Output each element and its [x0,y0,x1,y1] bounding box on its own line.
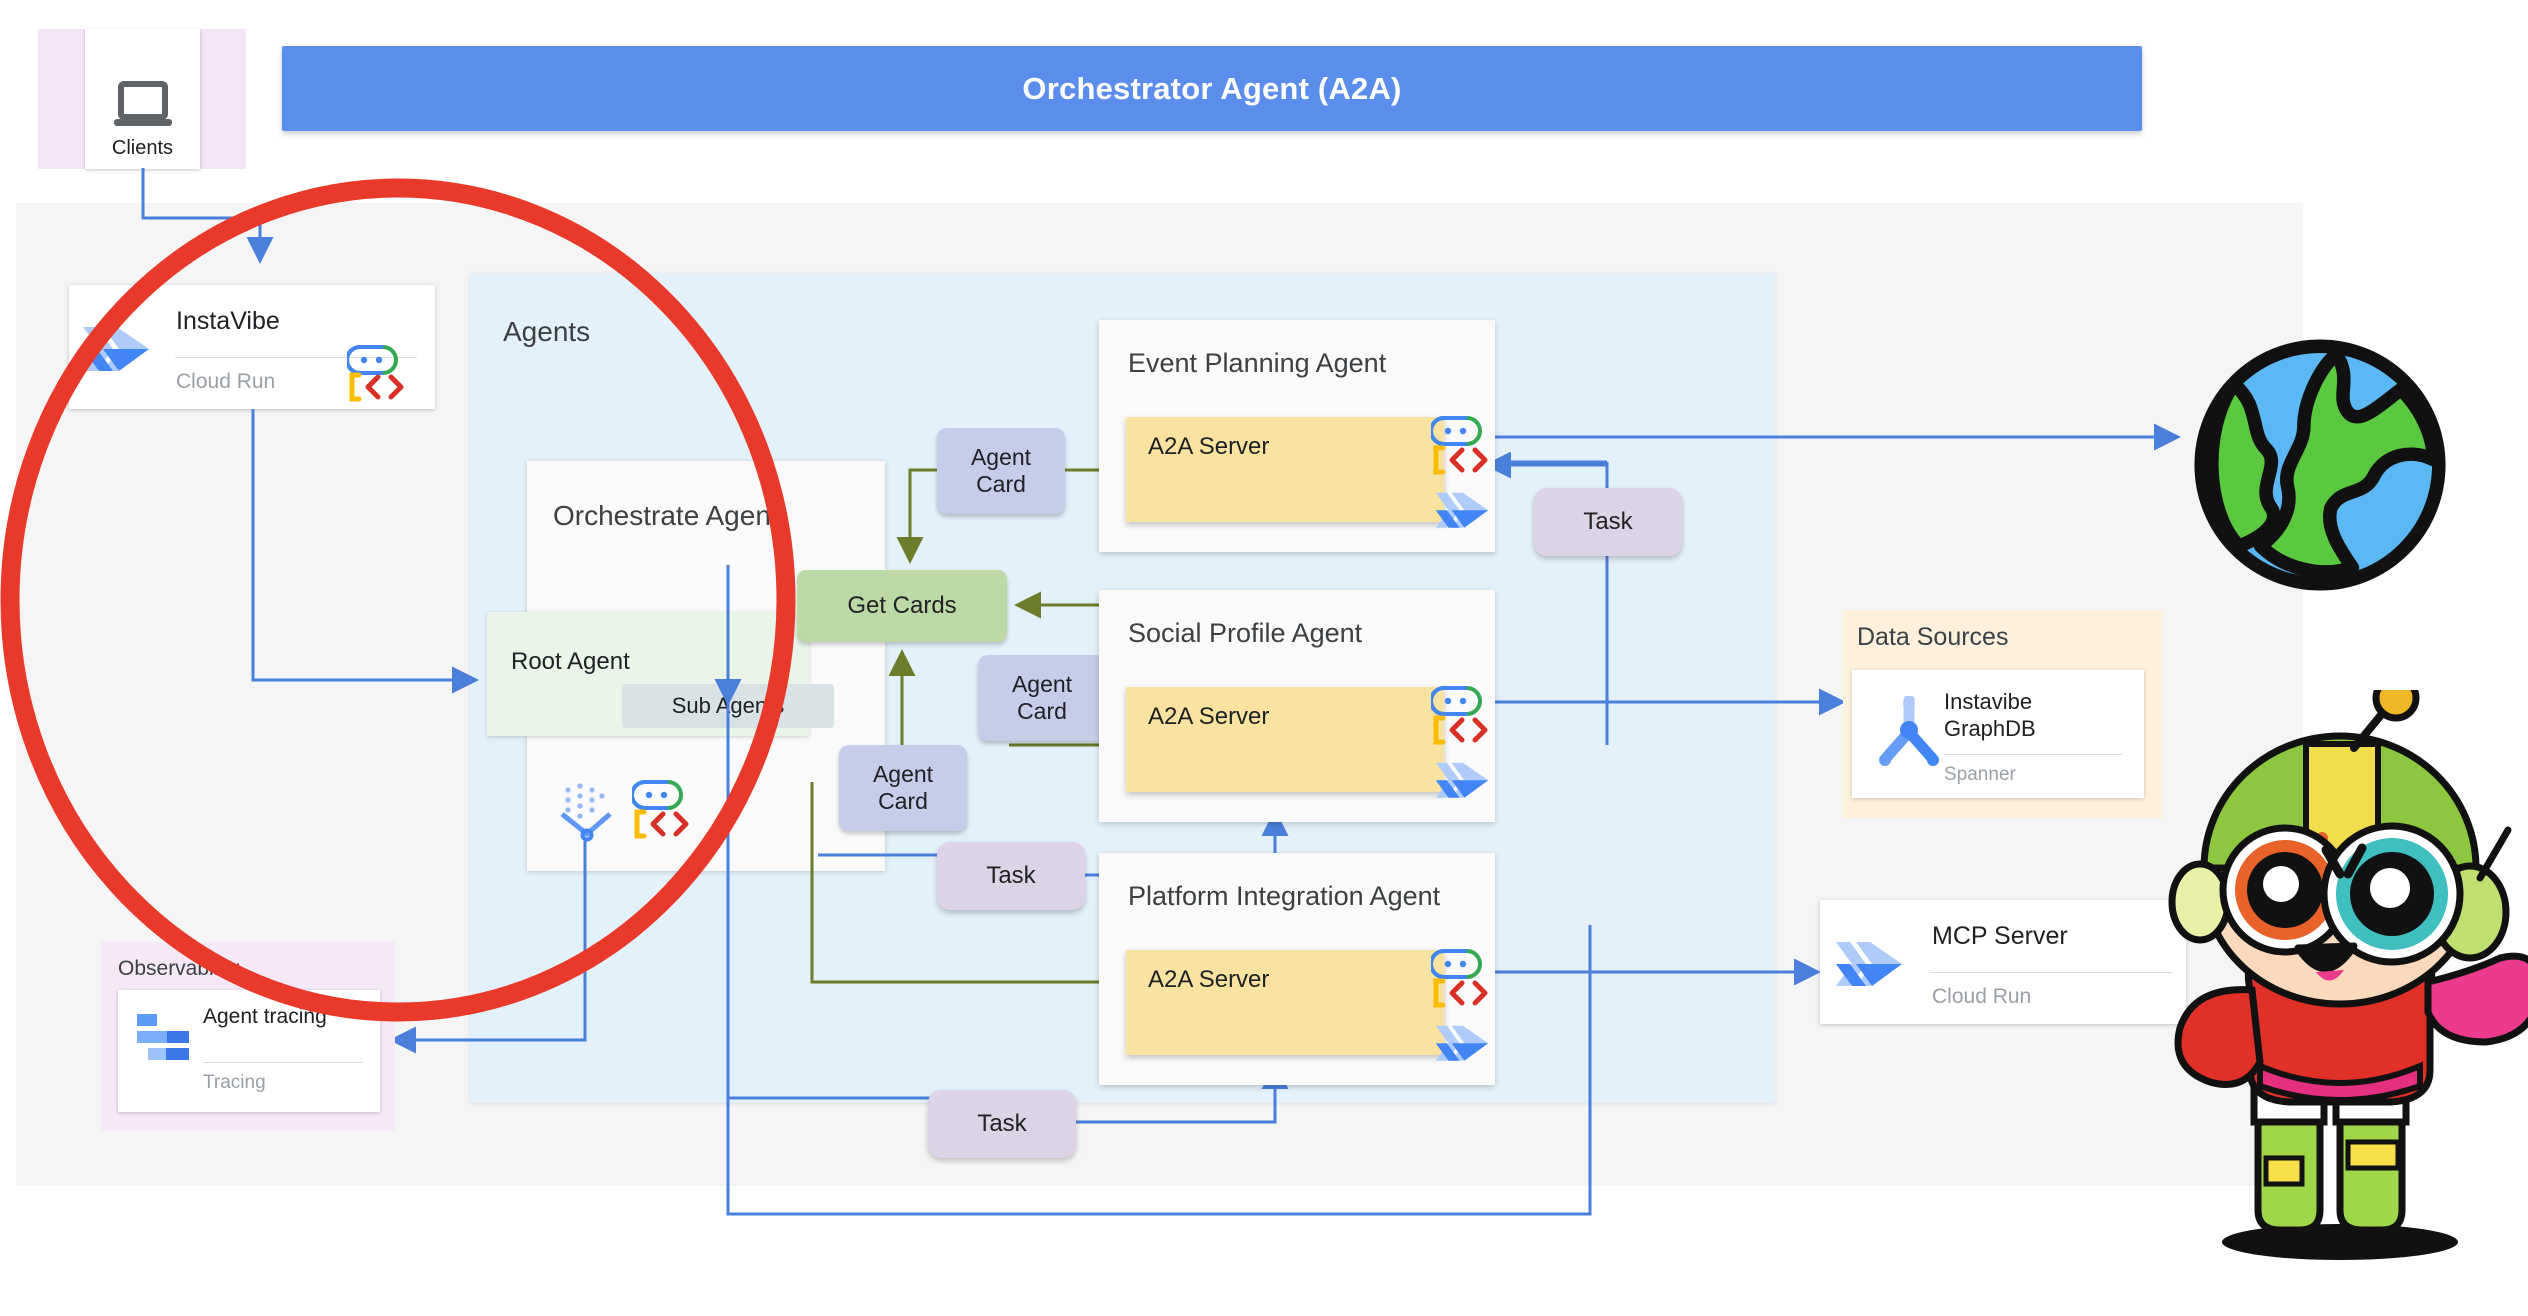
code-brackets-icon [1429,712,1499,752]
architecture-diagram: Orchestrator Agent (A2A) Clients InstaVi… [0,0,2528,1316]
agent-tracing-divider [203,1062,363,1063]
social-profile-a2a-server-label: A2A Server [1148,703,1269,731]
platform-integration-a2a-server-label: A2A Server [1148,966,1269,994]
spanner-icon [1874,696,1944,770]
code-brackets-icon [1429,975,1499,1015]
agent-card-bottom-label: AgentCard [873,761,933,815]
sub-agents-label: Sub Agents [672,693,785,719]
instavibe-graphdb-title: InstavibeGraphDB [1944,688,2036,743]
event-planning-agent-box[interactable]: Event Planning Agent A2A Server [1099,320,1495,552]
task-middle[interactable]: Task [937,842,1085,910]
event-planning-a2a-server[interactable]: A2A Server [1126,417,1444,522]
get-cards-label: Get Cards [847,592,956,620]
agent-tracing-title: Agent tracing [203,1005,327,1029]
platform-integration-agent-title: Platform Integration Agent [1128,881,1440,912]
platform-integration-agent-box[interactable]: Platform Integration Agent A2A Server [1099,853,1495,1085]
instavibe-graphdb-card[interactable]: InstavibeGraphDB Spanner [1852,670,2144,798]
instavibe-card[interactable]: InstaVibe Cloud Run [69,285,435,409]
agent-tracing-subtitle: Tracing [203,1072,266,1094]
agent-card-middle-label: AgentCard [1012,671,1072,725]
social-profile-agent-title: Social Profile Agent [1128,618,1362,649]
platform-integration-a2a-server[interactable]: A2A Server [1126,950,1444,1055]
mcp-server-title: MCP Server [1932,922,2068,951]
cloud-run-icon [77,313,155,385]
mcp-server-card[interactable]: MCP Server Cloud Run [1820,900,2186,1024]
task-top-label: Task [1583,508,1632,536]
agents-container-label: Agents [503,316,590,348]
observability-label: Observability [118,957,239,981]
task-bottom-label: Task [977,1110,1026,1138]
graphdb-divider [1944,754,2122,755]
task-top[interactable]: Task [1534,488,1682,556]
root-agent-label: Root Agent [511,648,630,676]
globe-icon [2185,330,2455,600]
trace-bars-icon [135,1012,197,1062]
cloud-run-icon [1431,485,1493,537]
code-brackets-icon [345,369,415,409]
laptop-icon [112,79,174,133]
get-cards-node[interactable]: Get Cards [797,570,1007,642]
social-profile-a2a-server[interactable]: A2A Server [1126,687,1444,792]
event-planning-a2a-server-label: A2A Server [1148,433,1269,461]
orchestrate-agent-title: Orchestrate Agent [553,500,779,532]
mcp-server-divider [1930,972,2172,973]
social-profile-agent-box[interactable]: Social Profile Agent A2A Server [1099,590,1495,822]
agent-tracing-card[interactable]: Agent tracing Tracing [118,990,380,1112]
cloud-run-icon [1431,1018,1493,1070]
mcp-server-subtitle: Cloud Run [1932,985,2031,1009]
orchestrator-banner: Orchestrator Agent (A2A) [282,46,2142,131]
instavibe-subtitle: Cloud Run [176,370,275,394]
sub-agents-chip[interactable]: Sub Agents [622,684,834,728]
robot-mascot-icon [2140,690,2528,1270]
banner-title: Orchestrator Agent (A2A) [1022,71,1401,107]
data-sources-label: Data Sources [1857,623,2008,652]
agent-card-middle[interactable]: AgentCard [978,655,1106,741]
agent-card-top-label: AgentCard [971,444,1031,498]
cloud-run-icon [1431,755,1493,807]
clients-label: Clients [112,137,173,160]
instavibe-title: InstaVibe [176,307,280,336]
task-bottom[interactable]: Task [928,1090,1076,1158]
event-planning-agent-title: Event Planning Agent [1128,348,1386,379]
task-middle-label: Task [986,862,1035,890]
cloud-run-icon [1830,928,1908,1000]
agent-card-bottom[interactable]: AgentCard [839,745,967,831]
clients-card[interactable]: Clients [85,29,200,169]
code-brackets-icon [630,806,700,846]
instavibe-graphdb-subtitle: Spanner [1944,764,2016,786]
vertex-ai-icon [556,780,618,842]
code-brackets-icon [1429,442,1499,482]
agent-card-top[interactable]: AgentCard [937,428,1065,514]
